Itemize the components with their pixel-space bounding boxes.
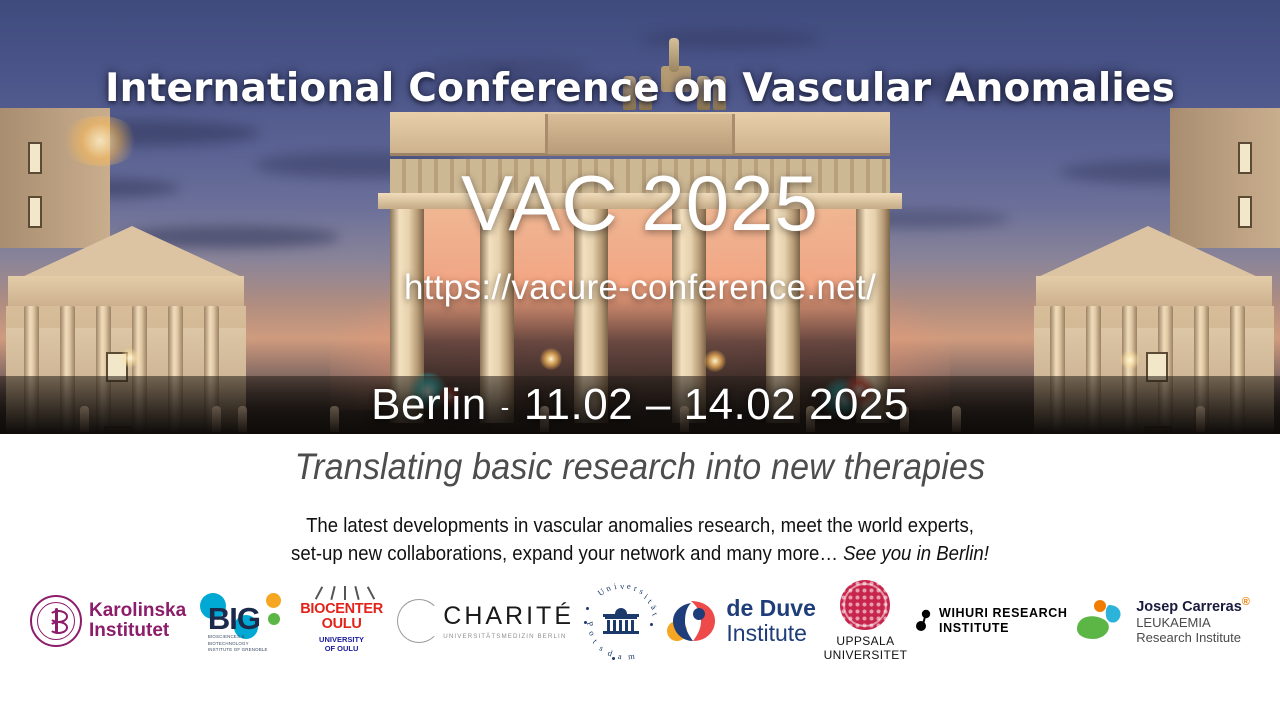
karolinska-line2: Institutet: [89, 621, 186, 641]
logo-universitat-potsdam[interactable]: U n i v e r s i t ä t P o t s d a: [582, 585, 658, 657]
charite-subtitle: UNIVERSITÄTSMEDIZIN BERLIN: [443, 633, 574, 640]
ray: [330, 586, 335, 600]
de-duve-line1: de Duve: [726, 596, 815, 621]
big-wordmark: BIG: [208, 601, 260, 637]
charite-circle-icon: [397, 599, 441, 643]
de-duve-mark-icon: [665, 597, 719, 645]
logo-karolinska-institutet[interactable]: Karolinska Institutet: [30, 585, 186, 657]
potsdam-building-icon: [603, 608, 639, 636]
carreras-svg: [1075, 599, 1129, 643]
wihuri-svg: [915, 609, 933, 633]
ray: [314, 586, 322, 599]
ring-char: ä: [648, 603, 658, 612]
karolinska-line1: Karolinska: [89, 601, 186, 621]
uppsala-line1: UPPSALA: [824, 634, 908, 648]
seal-dot: [586, 607, 589, 610]
de-duve-svg: [665, 597, 719, 645]
ring-char: m: [627, 651, 635, 662]
oulu-line1: BIOCENTER: [294, 602, 390, 617]
ring-char: v: [619, 581, 624, 591]
big-dot-orange: [266, 593, 281, 608]
uppsala-wordmark: UPPSALA UNIVERSITET: [824, 634, 908, 663]
ring-char: s: [597, 643, 605, 653]
oulu-rays-icon: [294, 586, 390, 602]
street-light: [540, 348, 562, 370]
description-line-2: set-up new collaborations, expand your n…: [45, 540, 1235, 568]
charite-wordmark: CHARITÉ: [443, 602, 574, 631]
description-line-2-text: set-up new collaborations, expand your n…: [291, 543, 838, 565]
gate-attic-panel: [545, 114, 735, 154]
ring-char: t: [650, 611, 660, 618]
de-duve-wordmark: de Duve Institute: [726, 596, 815, 646]
ring-char: i: [613, 581, 618, 591]
conference-url[interactable]: https://vacure-conference.net/: [0, 268, 1280, 308]
logo-wihuri-research-institute[interactable]: WIHURI RESEARCH INSTITUTE: [915, 585, 1067, 657]
asclepius-rod-icon: [55, 608, 58, 634]
wihuri-line2: INSTITUTE: [939, 621, 1067, 636]
logo-de-duve-institute[interactable]: de Duve Institute: [665, 585, 815, 657]
karolinska-seal-icon: [30, 595, 82, 647]
oulu-line4: OF OULU: [294, 644, 390, 653]
ring-char: a: [617, 651, 622, 661]
logo-big-grenoble[interactable]: BIG BIOSCIENCES & BIOTECHNOLOGY INSTITUT…: [194, 585, 286, 657]
uppsala-seal-icon: [840, 580, 890, 630]
big-mark-icon: BIG BIOSCIENCES & BIOTECHNOLOGY INSTITUT…: [194, 589, 286, 653]
ring-char: U: [595, 586, 606, 598]
wihuri-mark-icon: [915, 609, 933, 633]
potsdam-seal-icon: U n i v e r s i t ä t P o t s d a: [582, 583, 658, 659]
carreras-line1: Josep Carreras®: [1136, 596, 1250, 615]
uppsala-lockup: UPPSALA UNIVERSITET: [824, 580, 908, 663]
de-duve-line2: Institute: [726, 620, 807, 646]
ray: [344, 586, 346, 600]
charite-lockup: CHARITÉ UNIVERSITÄTSMEDIZIN BERLIN: [443, 602, 574, 640]
carreras-line2: LEUKAEMIA: [1136, 615, 1250, 631]
description-text: The latest developments in vascular anom…: [45, 512, 1235, 569]
ring-char: e: [626, 581, 630, 591]
uppsala-line2: UNIVERSITET: [824, 648, 908, 662]
conference-poster: @visitberlin, photo: Wolfgang Scholvien …: [0, 0, 1280, 720]
date-range: 11.02 – 14.02 2025: [524, 380, 909, 429]
big-sub-3: INSTITUTE OF GRENOBLE: [208, 647, 268, 654]
seal-dot: [584, 621, 587, 624]
registered-mark: ®: [1242, 596, 1250, 608]
description-line-1: The latest developments in vascular anom…: [45, 512, 1235, 540]
date-separator: -: [487, 392, 524, 422]
wihuri-wordmark: WIHURI RESEARCH INSTITUTE: [939, 606, 1067, 636]
logo-biocenter-oulu[interactable]: BIOCENTER OULU UNIVERSITY OF OULU: [294, 585, 390, 657]
oulu-university: UNIVERSITY OF OULU: [294, 635, 390, 654]
oulu-line3: UNIVERSITY: [294, 635, 390, 644]
conference-acronym: VAC 2025: [0, 158, 1280, 249]
ring-char: r: [633, 583, 638, 593]
carreras-name: Josep Carreras: [1136, 599, 1242, 615]
karolinska-wordmark: Karolinska Institutet: [89, 601, 186, 641]
oulu-lockup: BIOCENTER OULU UNIVERSITY OF OULU: [294, 586, 390, 656]
closing-italic: See you in Berlin!: [843, 543, 989, 565]
big-sub-1: BIOSCIENCES &: [208, 634, 268, 641]
street-light: [1120, 350, 1140, 370]
oulu-line2: OULU: [294, 617, 390, 632]
city-label: Berlin: [371, 380, 487, 429]
carreras-line3: Research Institute: [1136, 630, 1250, 646]
logo-charite[interactable]: CHARITÉ UNIVERSITÄTSMEDIZIN BERLIN: [397, 585, 574, 657]
josep-carreras-mark-icon: [1075, 599, 1129, 643]
seal-dot: [612, 657, 615, 660]
ring-char: s: [638, 586, 645, 596]
big-subtitle: BIOSCIENCES & BIOTECHNOLOGY INSTITUTE OF…: [208, 634, 268, 654]
big-sub-2: BIOTECHNOLOGY: [208, 641, 268, 648]
ray: [354, 586, 359, 600]
street-light: [704, 350, 726, 372]
tagline: Translating basic research into new ther…: [51, 446, 1229, 488]
location-and-dates: Berlin-11.02 – 14.02 2025: [0, 380, 1280, 430]
seal-dot: [650, 623, 653, 626]
page-title: International Conference on Vascular Ano…: [0, 66, 1280, 111]
sponsor-logo-row: Karolinska Institutet BIG BIOSCIENCES & …: [0, 578, 1280, 664]
ring-char: t: [590, 637, 599, 646]
wihuri-line1: WIHURI RESEARCH: [939, 606, 1067, 621]
ring-char: o: [586, 629, 597, 638]
ray: [366, 586, 374, 599]
carreras-wordmark: Josep Carreras® LEUKAEMIA Research Insti…: [1136, 596, 1250, 647]
logo-josep-carreras[interactable]: Josep Carreras® LEUKAEMIA Research Insti…: [1075, 585, 1250, 657]
big-dot-green: [268, 613, 280, 625]
logo-uppsala-universitet[interactable]: UPPSALA UNIVERSITET: [824, 585, 908, 657]
street-light: [120, 348, 140, 368]
